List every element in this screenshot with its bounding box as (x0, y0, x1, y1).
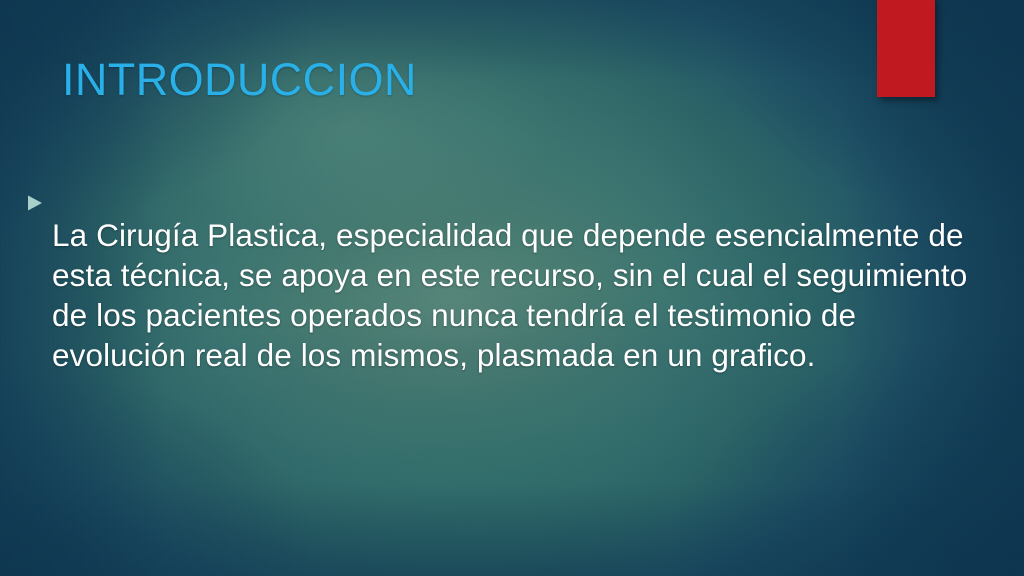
slide-body-text: La Cirugía Plastica, especialidad que de… (52, 215, 988, 375)
slide-body-placeholder: La Cirugía Plastica, especialidad que de… (26, 183, 988, 406)
slide-title: INTRODUCCION (62, 53, 417, 106)
red-accent-rectangle (877, 0, 935, 97)
presentation-slide: INTRODUCCION La Cirugía Plastica, especi… (0, 0, 1024, 576)
bullet-list-item: La Cirugía Plastica, especialidad que de… (26, 183, 988, 406)
triangle-right-bullet-icon (26, 194, 44, 212)
